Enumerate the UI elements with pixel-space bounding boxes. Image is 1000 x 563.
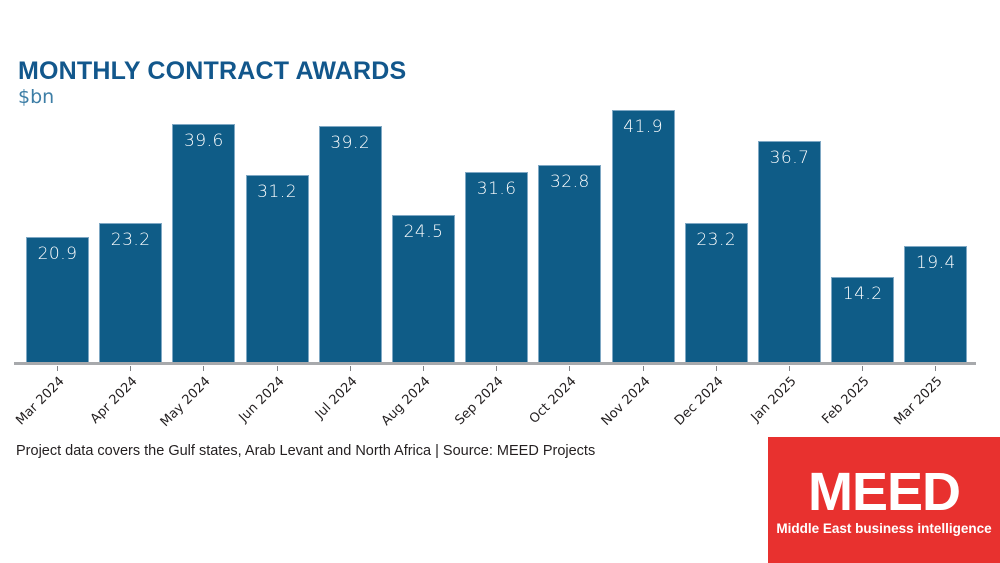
bar[interactable]: 32.8 [538,165,601,363]
bar-value-label: 23.2 [100,230,161,250]
bar[interactable]: 31.6 [465,172,528,363]
tick-mark [789,366,790,371]
bar-column[interactable]: 31.6 [465,172,528,363]
x-tick-label: Sep 2024 [453,374,507,428]
bar[interactable]: 24.5 [392,215,455,363]
bar-value-label: 31.2 [247,182,308,202]
x-tick-label: Mar 2024 [13,374,67,428]
x-tick-label: May 2024 [158,374,214,430]
x-axis-line [14,362,976,365]
logo-tagline: Middle East business intelligence [768,521,1000,536]
x-tick-label: Jun 2024 [236,374,287,425]
bar-column[interactable]: 39.6 [172,124,235,363]
x-tick-label: Oct 2024 [527,374,580,427]
bar-value-label: 19.4 [905,253,966,273]
bar-value-label: 20.9 [27,244,88,264]
chart-unit-subtitle: $bn [18,86,54,108]
x-tick: Mar 2024 [26,366,89,432]
x-tick: Feb 2025 [831,366,894,432]
bar-value-label: 23.2 [686,230,747,250]
x-tick: May 2024 [172,366,235,432]
tick-mark [643,366,644,371]
tick-mark [862,366,863,371]
bar-value-label: 41.9 [613,117,674,137]
x-tick: Oct 2024 [538,366,601,432]
x-tick-label: Feb 2025 [820,374,873,427]
bar-series: 20.923.239.631.239.224.531.632.841.923.2… [14,110,979,363]
bar-value-label: 24.5 [393,222,454,242]
bar-column[interactable]: 19.4 [904,246,967,363]
bar-column[interactable]: 23.2 [99,223,162,363]
page-title: MONTHLY CONTRACT AWARDS [18,57,406,86]
bar-column[interactable]: 23.2 [685,223,748,363]
tick-mark [496,366,497,371]
bar-value-label: 39.6 [173,131,234,151]
bar-column[interactable]: 32.8 [538,165,601,363]
source-footnote: Project data covers the Gulf states, Ara… [16,443,595,459]
bar-value-label: 39.2 [320,133,381,153]
x-tick: Jul 2024 [319,366,382,432]
bar-value-label: 36.7 [759,148,820,168]
tick-mark [277,366,278,371]
x-tick-label: Apr 2024 [88,374,141,427]
x-tick-label: Jan 2025 [749,374,800,425]
x-tick: Dec 2024 [685,366,748,432]
bar-column[interactable]: 20.9 [26,237,89,363]
bar-column[interactable]: 14.2 [831,277,894,363]
bar[interactable]: 20.9 [26,237,89,363]
x-tick: Sep 2024 [465,366,528,432]
tick-mark [57,366,58,371]
logo-wordmark: MEED [768,465,1000,519]
bar-column[interactable]: 31.2 [246,175,309,363]
bar[interactable]: 14.2 [831,277,894,363]
bar-column[interactable]: 24.5 [392,215,455,363]
bar-column[interactable]: 39.2 [319,126,382,363]
chart-page: MONTHLY CONTRACT AWARDS $bn 20.923.239.6… [0,0,1000,563]
bar-value-label: 31.6 [466,179,527,199]
tick-mark [423,366,424,371]
bar[interactable]: 19.4 [904,246,967,363]
bar-column[interactable]: 36.7 [758,141,821,363]
bar[interactable]: 41.9 [612,110,675,363]
tick-mark [350,366,351,371]
tick-mark [203,366,204,371]
bar-value-label: 14.2 [832,284,893,304]
bar[interactable]: 23.2 [99,223,162,363]
x-axis-labels: Mar 2024Apr 2024May 2024Jun 2024Jul 2024… [14,366,979,432]
bar[interactable]: 39.2 [319,126,382,363]
tick-mark [935,366,936,371]
x-tick-label: Aug 2024 [379,374,434,429]
x-tick-label: Mar 2025 [892,374,946,428]
x-tick-label: Jul 2024 [312,374,360,422]
tick-mark [130,366,131,371]
x-tick: Mar 2025 [904,366,967,432]
x-tick: Jan 2025 [758,366,821,432]
bar[interactable]: 31.2 [246,175,309,363]
meed-logo: MEED Middle East business intelligence [768,437,1000,563]
bar[interactable]: 39.6 [172,124,235,363]
bar-column[interactable]: 41.9 [612,110,675,363]
bar[interactable]: 36.7 [758,141,821,363]
x-tick: Aug 2024 [392,366,455,432]
x-tick: Apr 2024 [99,366,162,432]
x-tick: Jun 2024 [246,366,309,432]
bar-value-label: 32.8 [539,172,600,192]
x-tick-label: Dec 2024 [672,374,727,429]
x-tick: Nov 2024 [612,366,675,432]
tick-mark [569,366,570,371]
x-tick-label: Nov 2024 [598,374,653,429]
bar[interactable]: 23.2 [685,223,748,363]
tick-mark [716,366,717,371]
